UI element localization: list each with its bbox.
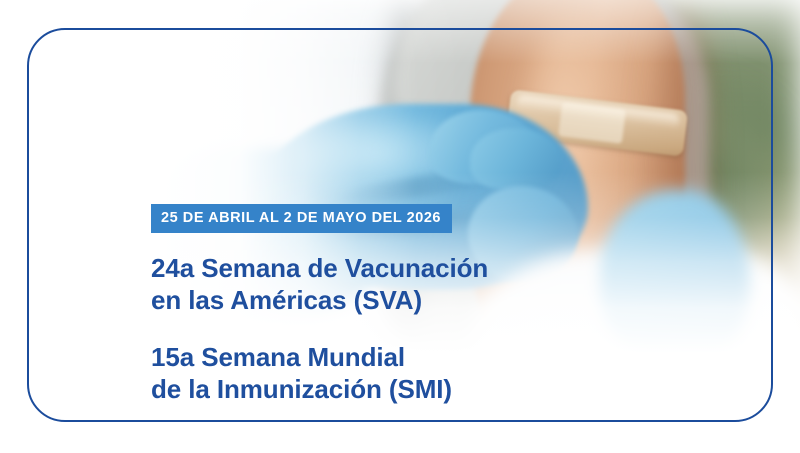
headline-sva-line-2: en las Américas (SVA): [151, 284, 488, 317]
text-block: 25 DE ABRIL AL 2 DE MAYO DEL 2026 24a Se…: [151, 204, 488, 406]
vaccination-week-banner: 25 DE ABRIL AL 2 DE MAYO DEL 2026 24a Se…: [0, 0, 800, 453]
headline-smi-line-2: de la Inmunización (SMI): [151, 373, 488, 406]
headline-smi: 15a Semana Mundial de la Inmunización (S…: [151, 341, 488, 406]
headline-sva: 24a Semana de Vacunación en las Américas…: [151, 252, 488, 317]
date-range-badge: 25 DE ABRIL AL 2 DE MAYO DEL 2026: [151, 204, 452, 233]
headline-smi-line-1: 15a Semana Mundial: [151, 341, 488, 374]
headline-sva-line-1: 24a Semana de Vacunación: [151, 252, 488, 285]
